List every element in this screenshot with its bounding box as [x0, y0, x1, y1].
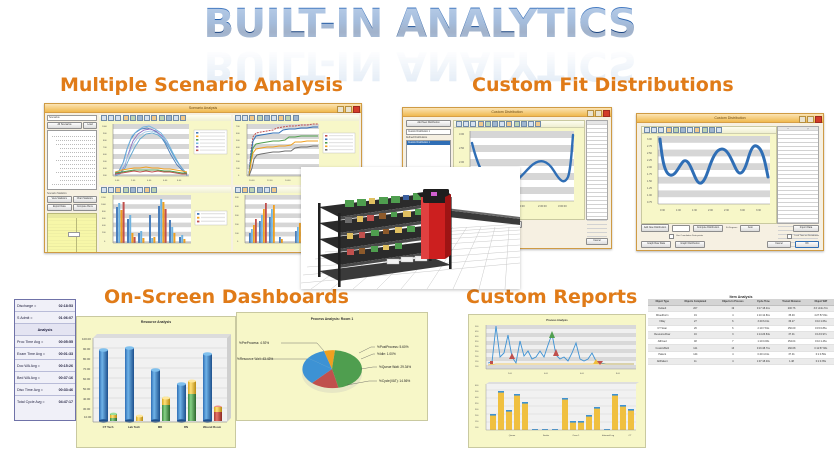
tree-rows[interactable] [50, 133, 95, 185]
scenario-chart-a[interactable]: 1000900800 700600500 400300 0:002:004:00… [99, 115, 231, 185]
cell-wip: 0:10:1.66s [808, 318, 834, 325]
defined-distributions-label: Defined Distributions [406, 137, 451, 139]
svg-text:6:00: 6:00 [163, 180, 168, 182]
cell-completed: 16 [676, 332, 714, 339]
cell-wip: 0:10:1.46s [808, 338, 834, 345]
scenario-stats-title: Scenario Statistics [47, 192, 97, 195]
scenario-chart-c[interactable]: 12001000800 6004002000 [99, 187, 231, 251]
cell-cycle-time: 1:07:18.40s [751, 358, 775, 365]
grid-col-y: y [807, 128, 808, 130]
reports-bars-svg: 600500400 350300200 150100 QueueSealerOv… [472, 382, 642, 442]
caption-custom-fit-distributions: Custom Fit Distributions [472, 74, 734, 96]
grid-col-x: x [787, 128, 788, 130]
cell-object-type: XRay [648, 318, 676, 325]
update-selected-distribution-button[interactable]: Add New Distribution [641, 224, 669, 232]
process-analysis-pie-chart[interactable]: Process Analysis: Room 1 [236, 312, 428, 421]
svg-text:3.00: 3.00 [459, 132, 465, 136]
svg-text:3:30: 3:30 [756, 209, 761, 212]
svg-text:4:00: 4:00 [544, 373, 549, 375]
svg-text:Inbound Lag: Inbound Lag [602, 435, 615, 437]
svg-text:2.50: 2.50 [459, 146, 465, 150]
timing-value: 00:01:33 [59, 352, 73, 356]
svg-text:350: 350 [475, 403, 479, 405]
timing-value: 02:18:53 [59, 304, 73, 308]
scenario-window-title: Scenario Analysis [189, 104, 217, 112]
svg-text:2:00: 2:00 [131, 180, 136, 182]
page-title: BUILT-IN ANALYTICS BUILT-IN ANALYTICS [0, 4, 840, 85]
svg-text:2.00: 2.00 [459, 160, 465, 164]
svg-text:Queue: Queue [509, 435, 516, 437]
pie-label-queuewait: %Queue Wait: 29.34% [379, 365, 411, 369]
cell-cycle-time: 0:40:4.01s [751, 351, 775, 358]
cell-object-type: Default [648, 305, 676, 312]
cell-cycle-time: 3:40:6.01s [751, 318, 775, 325]
table-row[interactable]: CustomBuilt 121 13 0:16:48.71s 160.68 0:… [648, 345, 834, 352]
fit1-titlebar[interactable]: Custom Distribution [403, 108, 611, 117]
cell-in-process: 3 [714, 332, 751, 339]
cell-cycle-time: 1:10:0.06s [751, 338, 775, 345]
fit2-footer-buttons[interactable]: Graph Raw Data Graph Distribution Cancel… [641, 241, 819, 248]
svg-text:300: 300 [235, 215, 239, 217]
cell-completed: 27 [676, 318, 714, 325]
svg-text:400: 400 [475, 397, 479, 399]
maximize-icon[interactable] [807, 116, 814, 123]
timing-row: Disc Time Avg = 00:33:46 [15, 384, 75, 396]
table-row[interactable]: MixedForm 19 4 1:10:12.81s 35.49 4:27:57… [648, 312, 834, 319]
cell-in-process: 6 [714, 325, 751, 332]
svg-text:10.00: 10.00 [84, 415, 92, 419]
simulation-svg [301, 167, 520, 289]
cell-transit: 35.49 [775, 312, 807, 319]
resource-bars-svg: 100.0090.0080.00 70.0060.0050.00 40.0030… [77, 326, 235, 446]
process-analysis-title: Process Analysis: Room 1 [237, 317, 427, 321]
svg-text:14:00: 14:00 [285, 180, 291, 182]
custom-distribution-window-2[interactable]: Custom Distribution [636, 113, 824, 251]
fit2-titlebar[interactable]: Custom Distribution [637, 114, 823, 123]
svg-text:300: 300 [475, 346, 479, 348]
timing-row: Total Cycle Avg = 04:47:17 [15, 396, 75, 407]
svg-text:800: 800 [102, 211, 106, 213]
svg-text:2.75: 2.75 [647, 145, 652, 148]
cell-transit: 150.09 [775, 325, 807, 332]
svg-text:400: 400 [102, 225, 106, 227]
svg-text:0:00: 0:00 [115, 180, 120, 182]
lock-time-checkbox[interactable] [787, 234, 792, 239]
timing-label: S Admit = [17, 316, 57, 320]
pie-label-idle: %Idle: 1.00% [377, 352, 396, 356]
svg-text:500: 500 [103, 161, 107, 163]
cell-completed: 11 [676, 358, 714, 365]
cell-transit: 1.48 [775, 358, 807, 365]
cell-object-type: Patient [648, 351, 676, 358]
timing-label: Discharge = [17, 304, 57, 308]
svg-text:4:00: 4:00 [147, 180, 152, 182]
cell-transit: 36.27 [775, 318, 807, 325]
timing-label: Doc WA Avg = [17, 364, 57, 368]
svg-text:100.00: 100.00 [82, 337, 91, 341]
cell-object-type: AllFixed [648, 338, 676, 345]
graph-distribution-button[interactable]: Graph Distribution [675, 241, 705, 248]
svg-text:150: 150 [475, 361, 479, 363]
use-cumulative-checkbox[interactable] [669, 234, 674, 239]
svg-text:500: 500 [475, 326, 479, 328]
timing-row: Doc WA Avg = 00:15:26 [15, 360, 75, 372]
window-controls[interactable] [799, 116, 822, 123]
chart-a-svg: 1000900800 700600500 400300 0:002:004:00… [99, 121, 231, 185]
svg-text:2:30: 2:30 [724, 209, 729, 212]
svg-text:500: 500 [475, 391, 479, 393]
svg-text:0:30: 0:30 [660, 209, 665, 212]
svg-text:1200: 1200 [101, 197, 107, 199]
fit-degrees-select[interactable]: Auto [740, 225, 760, 232]
svg-text:600: 600 [236, 133, 240, 135]
ok-button[interactable]: OK [795, 241, 819, 248]
table-row[interactable]: AltPatient 11 4 1:07:18.40s 1.48 0:1:0.3… [648, 358, 834, 365]
page-title-text: BUILT-IN ANALYTICS [204, 4, 637, 44]
scenario-stats-grid[interactable] [47, 213, 97, 253]
scenario-panel-label: Scenarios [47, 115, 97, 121]
svg-text:250: 250 [475, 351, 479, 353]
cell-wip: 0:1:0.35s [808, 358, 834, 365]
cell-in-process: 4 [714, 351, 751, 358]
reports-line-svg: 500450400350 300250200150 100 2:004:006:… [472, 323, 642, 379]
window-controls[interactable] [337, 106, 360, 113]
cell-completed: 19 [676, 312, 714, 319]
cell-object-type: CustomBuilt [648, 345, 676, 352]
timing-label: Total Cycle Avg = [17, 400, 57, 404]
chart-c-plot: 12001000800 6004002000 [99, 193, 231, 251]
pie-label-cycle: %Cycle(VAT): 14.56% [379, 379, 410, 383]
data-count-field[interactable] [672, 225, 690, 232]
timing-label: Bed WA Avg = [17, 376, 57, 380]
scenario-stats-buttons-row1[interactable]: View Statistics Chart Statistics [47, 196, 97, 203]
cancel-button[interactable]: Cancel [586, 238, 608, 245]
svg-text:1.75: 1.75 [647, 173, 652, 176]
timing-row: Discharge = 02:18:53 [15, 300, 75, 312]
svg-text:1.00: 1.00 [647, 194, 652, 197]
fit2-chart-area: 3.002.752.502.25 2.001.751.501.25 1.000.… [641, 126, 777, 224]
svg-text:3.00: 3.00 [647, 138, 652, 141]
cell-completed: 144 [676, 351, 714, 358]
pie-label-preprocess: %PreProcess: 4.92% [239, 341, 269, 345]
svg-text:80.00: 80.00 [83, 357, 91, 361]
timing-label: Proc Time Avg = [17, 340, 57, 344]
table-row[interactable]: Patient 144 4 0:40:4.01s 37.01 0:1:0.56s [648, 351, 834, 358]
fit2-curve-svg: 3.002.752.502.25 2.001.751.501.25 1.000.… [642, 133, 778, 221]
cell-object-type: ResourceFlow [648, 332, 676, 339]
cell-wip: 0:11:57.66s [808, 345, 834, 352]
minimize-icon[interactable] [587, 110, 594, 117]
timing-value: 00:05:55 [59, 340, 73, 344]
svg-text:2:00: 2:00 [708, 209, 713, 212]
table-row[interactable]: CT Scan 26 6 2:10:7.81s 150.09 0:15:0.86… [648, 325, 834, 332]
scenario-selector-row[interactable]: All Scenarios Load [47, 122, 97, 129]
svg-text:6:00: 6:00 [580, 373, 585, 375]
timing-section-header: Analysis [15, 324, 75, 336]
chart-c-svg: 12001000800 6004002000 [99, 193, 231, 251]
cell-completed: 121 [676, 345, 714, 352]
svg-text:Wound Room: Wound Room [203, 425, 222, 429]
fit1-data-grid[interactable] [586, 120, 608, 220]
reports-bar-chart: 600500400 350300200 150100 QueueSealerOv… [472, 382, 642, 444]
item-analysis-grid[interactable]: Object Type Objects Completed Objects In… [648, 299, 834, 365]
svg-text:CT: CT [629, 435, 633, 437]
svg-text:800: 800 [103, 140, 107, 142]
svg-text:50.00: 50.00 [83, 387, 91, 391]
svg-text:2.00: 2.00 [647, 166, 652, 169]
table-row[interactable]: ResourceFlow 16 3 1:14:26.84s 37.01 0:13… [648, 332, 834, 339]
timing-row: Proc Time Avg = 00:05:55 [15, 336, 75, 348]
svg-text:100: 100 [235, 233, 239, 235]
svg-text:900: 900 [103, 133, 107, 135]
cancel-button[interactable]: Cancel [767, 241, 791, 248]
svg-text:60.00: 60.00 [83, 377, 91, 381]
svg-text:300: 300 [103, 175, 107, 177]
timing-row: Exam Time Avg = 00:01:33 [15, 348, 75, 360]
cell-cycle-time: 1:10:12.81s [751, 312, 775, 319]
timing-value: 01:06:07 [59, 316, 73, 320]
svg-text:600: 600 [102, 218, 106, 220]
svg-text:300: 300 [236, 154, 240, 156]
svg-text:1000: 1000 [102, 126, 108, 128]
scenario-dropdown[interactable]: All Scenarios [47, 122, 82, 129]
svg-text:350: 350 [475, 341, 479, 343]
cell-transit: 37.01 [775, 351, 807, 358]
svg-text:1:30: 1:30 [692, 209, 697, 212]
svg-text:150: 150 [475, 421, 479, 423]
cell-in-process: 13 [714, 345, 751, 352]
cell-in-process: 7 [714, 338, 751, 345]
cell-cycle-time: 2:10:7.81s [751, 325, 775, 332]
svg-text:2.50: 2.50 [647, 152, 652, 155]
cell-transit: 154.04 [775, 338, 807, 345]
compute-distribution-button[interactable]: Compute Distribution [693, 225, 723, 232]
svg-text:2.25: 2.25 [647, 159, 652, 162]
svg-text:600: 600 [103, 154, 107, 156]
timing-value: 00:15:26 [59, 364, 73, 368]
svg-text:3:00:00: 3:00:00 [558, 204, 567, 208]
cell-completed: 26 [676, 325, 714, 332]
timing-value: 00:37:16 [59, 376, 73, 380]
svg-text:1.50: 1.50 [647, 180, 652, 183]
svg-text:600: 600 [475, 385, 479, 387]
cell-object-type: AltPatient [648, 358, 676, 365]
cell-transit: 160.68 [775, 345, 807, 352]
svg-text:200: 200 [235, 224, 239, 226]
scenario-left-panel[interactable]: Scenarios All Scenarios Load [47, 115, 97, 249]
maximize-icon[interactable] [345, 106, 352, 113]
timing-row: S Admit = 01:06:07 [15, 312, 75, 324]
svg-text:450: 450 [475, 331, 479, 333]
svg-text:30.00: 30.00 [83, 407, 91, 411]
analysis-timing-panel[interactable]: Discharge = 02:18:53 S Admit = 01:06:07 … [14, 299, 76, 421]
simulation-3d-view[interactable] [301, 167, 520, 289]
maximize-icon[interactable] [595, 110, 602, 117]
cell-cycle-time: 0:16:48.71s [751, 345, 775, 352]
timing-value: 04:47:17 [59, 400, 73, 404]
table-row[interactable]: AllFixed 48 7 1:10:0.06s 154.04 0:10:1.4… [648, 338, 834, 345]
svg-text:500: 500 [236, 140, 240, 142]
cell-in-process: 4 [714, 358, 751, 365]
svg-text:200: 200 [102, 232, 106, 234]
cell-cycle-time: 0:17:18.41s [751, 305, 775, 312]
svg-text:100: 100 [475, 366, 479, 368]
graph-raw-data-button[interactable]: Graph Raw Data [641, 241, 671, 248]
svg-text:400: 400 [475, 336, 479, 338]
svg-text:200: 200 [475, 356, 479, 358]
reports-line-chart: Process Analysis [472, 318, 642, 380]
svg-text:MD: MD [158, 425, 162, 429]
caption-on-screen-dashboards: On-Screen Dashboards [104, 286, 349, 308]
svg-text:0: 0 [238, 175, 240, 177]
poster-root: BUILT-IN ANALYTICS BUILT-IN ANALYTICS Mu… [0, 0, 840, 455]
cell-completed: 48 [676, 338, 714, 345]
svg-text:RN: RN [184, 425, 188, 429]
cell-transit: 37.01 [775, 332, 807, 339]
svg-text:70.00: 70.00 [83, 367, 91, 371]
table-row[interactable]: XRay 27 6 3:40:6.01s 36.27 0:10:1.66s [648, 318, 834, 325]
lock-time-label: Lock Time on Distribution [794, 235, 819, 237]
close-icon[interactable] [353, 106, 360, 113]
svg-text:2:00: 2:00 [508, 373, 513, 375]
svg-text:700: 700 [103, 147, 107, 149]
load-button[interactable]: Load [83, 122, 97, 129]
cell-wip: 0:1:0.56s [808, 351, 834, 358]
fit2-data-grid[interactable]: xy [777, 126, 819, 224]
import-data-button[interactable]: Import Data [793, 225, 819, 232]
fit2-checkbox-row[interactable]: Use Cumulative Data points Lock Time on … [641, 234, 819, 239]
pie-label-postprocess: %PostProcess: 5.60% [377, 345, 409, 349]
svg-text:1:00: 1:00 [676, 209, 681, 212]
svg-text:CT Tech: CT Tech [103, 425, 114, 429]
item-analysis-table[interactable]: Item Analysis Object Type Objects Comple… [648, 294, 834, 377]
svg-text:100: 100 [236, 168, 240, 170]
timing-value: 00:33:46 [59, 388, 73, 392]
minimize-icon[interactable] [799, 116, 806, 123]
svg-text:700: 700 [236, 126, 240, 128]
cell-object-type: MixedForm [648, 312, 676, 319]
svg-text:400: 400 [103, 168, 107, 170]
timing-label: Exam Time Avg = [17, 352, 57, 356]
svg-text:1000: 1000 [101, 204, 107, 206]
resource-analysis-title: Resource Analysis [77, 320, 235, 324]
svg-text:300: 300 [475, 409, 479, 411]
svg-text:1.25: 1.25 [647, 187, 652, 190]
svg-text:500: 500 [235, 197, 239, 199]
compare-runs-button[interactable]: Compare Runs [73, 204, 98, 211]
pie-label-resourcewait: %Resource Wait: 43.43% [237, 357, 273, 361]
caption-custom-reports: Custom Reports [466, 286, 637, 308]
cell-in-process: 6 [714, 318, 751, 325]
svg-text:Sealer: Sealer [543, 434, 550, 437]
custom-reports-window[interactable]: Process Analysis [468, 314, 646, 448]
chart-a-plot: 1000900800 700600500 400300 0:002:004:00… [99, 121, 231, 185]
distribution-list-item-selected[interactable]: Custom Distribution 1 [407, 141, 450, 145]
svg-text:40.00: 40.00 [83, 397, 91, 401]
svg-text:200: 200 [475, 415, 479, 417]
caption-multiple-scenario-analysis: Multiple Scenario Analysis [60, 74, 343, 96]
svg-text:400: 400 [236, 147, 240, 149]
scenario-stats-buttons-row2[interactable]: Export Data Compare Runs [47, 204, 97, 211]
scenario-window-titlebar[interactable]: Scenario Analysis [45, 104, 361, 113]
svg-text:0.75: 0.75 [647, 201, 652, 204]
cell-wip: 3.6 Units Tot. [808, 305, 834, 312]
fit2-window-title: Custom Distribution [714, 114, 745, 122]
svg-text:100: 100 [475, 427, 479, 429]
fit2-footer[interactable]: Add New Distribution Compute Distributio… [641, 224, 819, 248]
distribution-name-field[interactable]: Custom Distribution 1 [406, 129, 451, 136]
cell-cycle-time: 1:14:26.84s [751, 332, 775, 339]
use-cumulative-label: Use Cumulative Data points [676, 235, 703, 237]
table-row[interactable]: Default 207 19 0:17:18.41s 200.76 3.6 Un… [648, 305, 834, 312]
svg-text:10:00: 10:00 [249, 180, 255, 182]
svg-text:2:30:00: 2:30:00 [538, 204, 547, 208]
timing-row: Bed WA Avg = 00:37:16 [15, 372, 75, 384]
svg-text:400: 400 [235, 206, 239, 208]
window-controls[interactable] [587, 110, 610, 117]
cell-in-process: 4 [714, 312, 751, 319]
cell-transit: 200.76 [775, 305, 807, 312]
cell-wip: 4:27:57.81s [808, 312, 834, 319]
export-data-button[interactable]: Export Data [47, 204, 72, 211]
cell-object-type: CT Scan [648, 325, 676, 332]
scenario-tree[interactable] [47, 130, 97, 190]
svg-text:200: 200 [236, 161, 240, 163]
cell-wip: 0:13:0.97s [808, 332, 834, 339]
view-statistics-button[interactable]: View Statistics [47, 196, 72, 203]
svg-text:3:00: 3:00 [740, 209, 745, 212]
cell-wip: 0:15:0.86s [808, 325, 834, 332]
svg-text:0: 0 [237, 241, 239, 243]
chart-statistics-button[interactable]: Chart Statistics [73, 196, 98, 203]
svg-text:Lab Tech: Lab Tech [128, 425, 140, 429]
svg-text:8:00: 8:00 [616, 373, 621, 375]
cell-completed: 207 [676, 305, 714, 312]
svg-text:Oven 1: Oven 1 [572, 435, 580, 437]
resource-analysis-chart[interactable]: Resource Analysis [76, 316, 236, 448]
cell-in-process: 19 [714, 305, 751, 312]
close-icon[interactable] [603, 110, 610, 117]
fit-degrees-label: Fit Degrees [726, 227, 737, 229]
minimize-icon[interactable] [337, 106, 344, 113]
fit1-window-title: Custom Distribution [491, 108, 522, 116]
add-new-distribution-button[interactable]: Add New Distribution [406, 120, 451, 127]
svg-text:8:00: 8:00 [177, 180, 182, 182]
svg-text:90.00: 90.00 [83, 347, 91, 351]
svg-text:12:00: 12:00 [267, 180, 273, 182]
svg-text:0: 0 [104, 241, 106, 243]
timing-label: Disc Time Avg = [17, 388, 57, 392]
pie-svg: %PreProcess: 4.92% %PostProcess: 5.60% %… [237, 327, 427, 417]
close-icon[interactable] [815, 116, 822, 123]
reports-line-title: Process Analysis [472, 319, 642, 322]
